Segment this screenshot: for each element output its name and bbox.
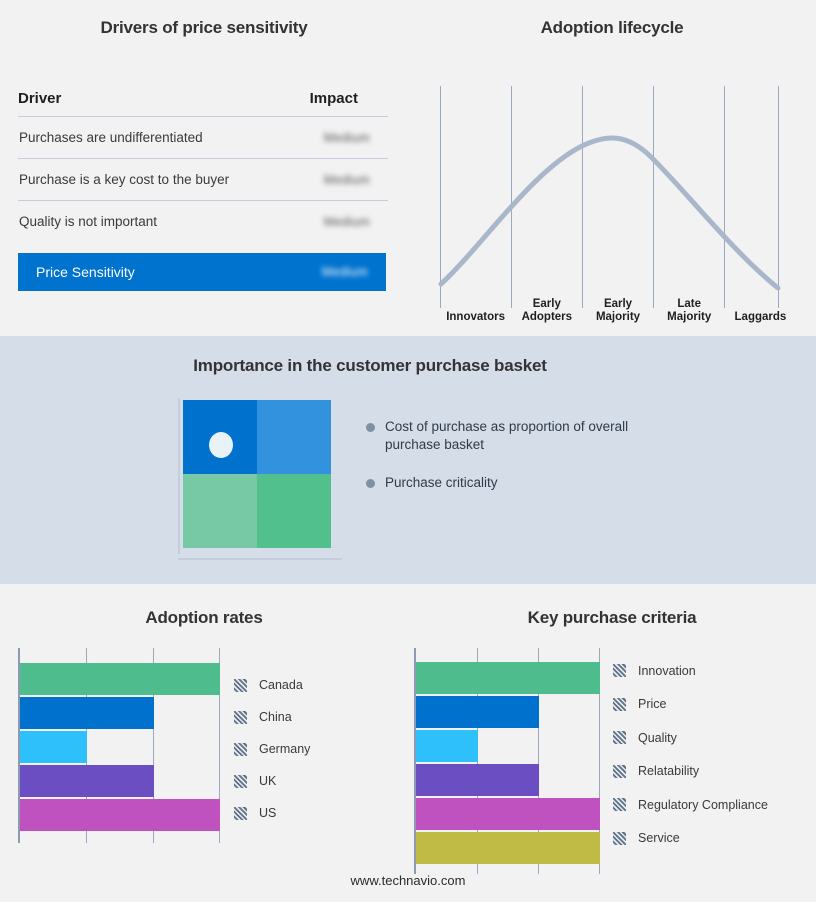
bar-relatability (416, 764, 539, 796)
table-row: Purchase is a key cost to the buyer Medi… (18, 158, 388, 200)
legend-item: Innovation (613, 654, 768, 688)
hatch-swatch-icon (234, 807, 247, 820)
label-line-1: Early (511, 298, 582, 311)
adoption-lifecycle-panel: Adoption lifecycle Innovators Early Adop… (408, 0, 816, 336)
price-sensitivity-label: Price Sensitivity (36, 264, 135, 280)
bar-uk (20, 765, 154, 797)
bar-service (416, 832, 600, 864)
bar-canada (20, 663, 220, 695)
key-purchase-criteria-title: Key purchase criteria (408, 608, 816, 628)
price-sensitivity-row: Price Sensitivity Medium (18, 253, 386, 291)
drivers-table-header: Driver Impact (18, 90, 388, 116)
hatch-swatch-icon (234, 679, 247, 692)
lifecycle-curve-svg (422, 76, 802, 316)
legend-label: UK (259, 774, 276, 788)
adoption-rates-plot (18, 648, 220, 843)
table-row: Purchases are undifferentiated Medium (18, 116, 388, 158)
bar-china (20, 697, 154, 729)
adoption-lifecycle-title: Adoption lifecycle (408, 18, 816, 38)
bar-quality (416, 730, 478, 762)
data-point-marker (209, 432, 233, 458)
hatch-swatch-icon (613, 731, 626, 744)
hatch-swatch-icon (613, 798, 626, 811)
drivers-title: Drivers of price sensitivity (0, 18, 408, 38)
legend-item: Cost of purchase as proportion of overal… (366, 418, 666, 454)
hatch-swatch-icon (234, 775, 247, 788)
lifecycle-label-early-majority: Early Majority (582, 282, 653, 326)
legend-label: Quality (638, 731, 677, 745)
lifecycle-label-late-majority: Late Majority (654, 282, 725, 326)
adoption-rates-title: Adoption rates (0, 608, 408, 628)
impact-value: Medium (324, 131, 370, 145)
table-row: Quality is not important Medium (18, 200, 388, 242)
lifecycle-label-innovators: Innovators (440, 282, 511, 326)
importance-title: Importance in the customer purchase bask… (0, 356, 740, 376)
legend-label: Relatability (638, 764, 699, 778)
key-criteria-plot (414, 648, 600, 874)
legend-item: UK (234, 765, 310, 797)
label-line-1: Late (654, 298, 725, 311)
quadrant-x-axis (178, 558, 342, 560)
lifecycle-curve (441, 138, 778, 288)
label-line-2: Adopters (511, 311, 582, 324)
adoption-rates-panel: Adoption rates Canada China Germany UK (0, 584, 408, 902)
legend-label: US (259, 806, 276, 820)
legend-item: Regulatory Compliance (613, 788, 768, 822)
hatch-swatch-icon (613, 832, 626, 845)
hatch-swatch-icon (613, 664, 626, 677)
footer-url: www.technavio.com (0, 873, 816, 888)
bullet-icon (366, 423, 375, 432)
legend-item: Germany (234, 733, 310, 765)
driver-label: Quality is not important (18, 214, 157, 229)
quadrant-y-axis (178, 398, 180, 554)
legend-item: Price (613, 688, 768, 722)
legend-label: China (259, 710, 292, 724)
legend-label: Price (638, 697, 666, 711)
legend-item: Relatability (613, 755, 768, 789)
bar-regulatory-compliance (416, 798, 600, 830)
label-line-2: Majority (582, 311, 653, 324)
label-line-2: Laggards (725, 311, 796, 324)
label-line-2: Innovators (440, 311, 511, 324)
key-purchase-criteria-panel: Key purchase criteria Innovation Price Q… (408, 584, 816, 902)
key-criteria-bars (416, 648, 600, 874)
bar-innovation (416, 662, 600, 694)
key-criteria-legend: Innovation Price Quality Relatability Re… (613, 654, 768, 855)
lifecycle-label-laggards: Laggards (725, 282, 796, 326)
bar-germany (20, 731, 87, 763)
legend-label: Germany (259, 742, 310, 756)
drivers-table: Driver Impact Purchases are undifferenti… (18, 90, 388, 291)
legend-item: Quality (613, 721, 768, 755)
legend-label: Service (638, 831, 680, 845)
bar-price (416, 696, 539, 728)
legend-item: China (234, 701, 310, 733)
legend-label: Cost of purchase as proportion of overal… (385, 418, 637, 454)
lifecycle-label-early-adopters: Early Adopters (511, 282, 582, 326)
lifecycle-category-labels: Innovators Early Adopters Early Majority… (440, 282, 796, 326)
impact-value: Medium (324, 215, 370, 229)
bar-us (20, 799, 220, 831)
legend-label: Purchase criticality (385, 474, 498, 492)
column-header-impact: Impact (310, 90, 358, 107)
legend-item: Purchase criticality (366, 474, 666, 492)
legend-label: Canada (259, 678, 303, 692)
quadrant-bottom-right (257, 474, 331, 548)
importance-legend: Cost of purchase as proportion of overal… (366, 418, 666, 512)
impact-value: Medium (324, 173, 370, 187)
legend-item: US (234, 797, 310, 829)
label-line-1: Early (582, 298, 653, 311)
legend-item: Canada (234, 669, 310, 701)
price-sensitivity-impact: Medium (322, 265, 368, 279)
hatch-swatch-icon (613, 698, 626, 711)
hatch-swatch-icon (234, 743, 247, 756)
adoption-rates-bars (20, 648, 220, 843)
quadrant-bottom-left (183, 474, 257, 548)
legend-label: Innovation (638, 664, 696, 678)
hatch-swatch-icon (613, 765, 626, 778)
driver-label: Purchases are undifferentiated (18, 130, 203, 145)
quadrant-top-right (257, 400, 331, 474)
adoption-lifecycle-chart: Innovators Early Adopters Early Majority… (422, 76, 802, 316)
drivers-panel: Drivers of price sensitivity Driver Impa… (0, 0, 408, 336)
quadrant-matrix (183, 400, 331, 548)
column-header-driver: Driver (18, 90, 61, 107)
legend-label: Regulatory Compliance (638, 798, 768, 812)
label-line-2: Majority (654, 311, 725, 324)
legend-item: Service (613, 822, 768, 856)
bullet-icon (366, 479, 375, 488)
adoption-rates-legend: Canada China Germany UK US (234, 669, 310, 829)
hatch-swatch-icon (234, 711, 247, 724)
driver-label: Purchase is a key cost to the buyer (18, 172, 229, 187)
lifecycle-gridlines (441, 86, 779, 308)
